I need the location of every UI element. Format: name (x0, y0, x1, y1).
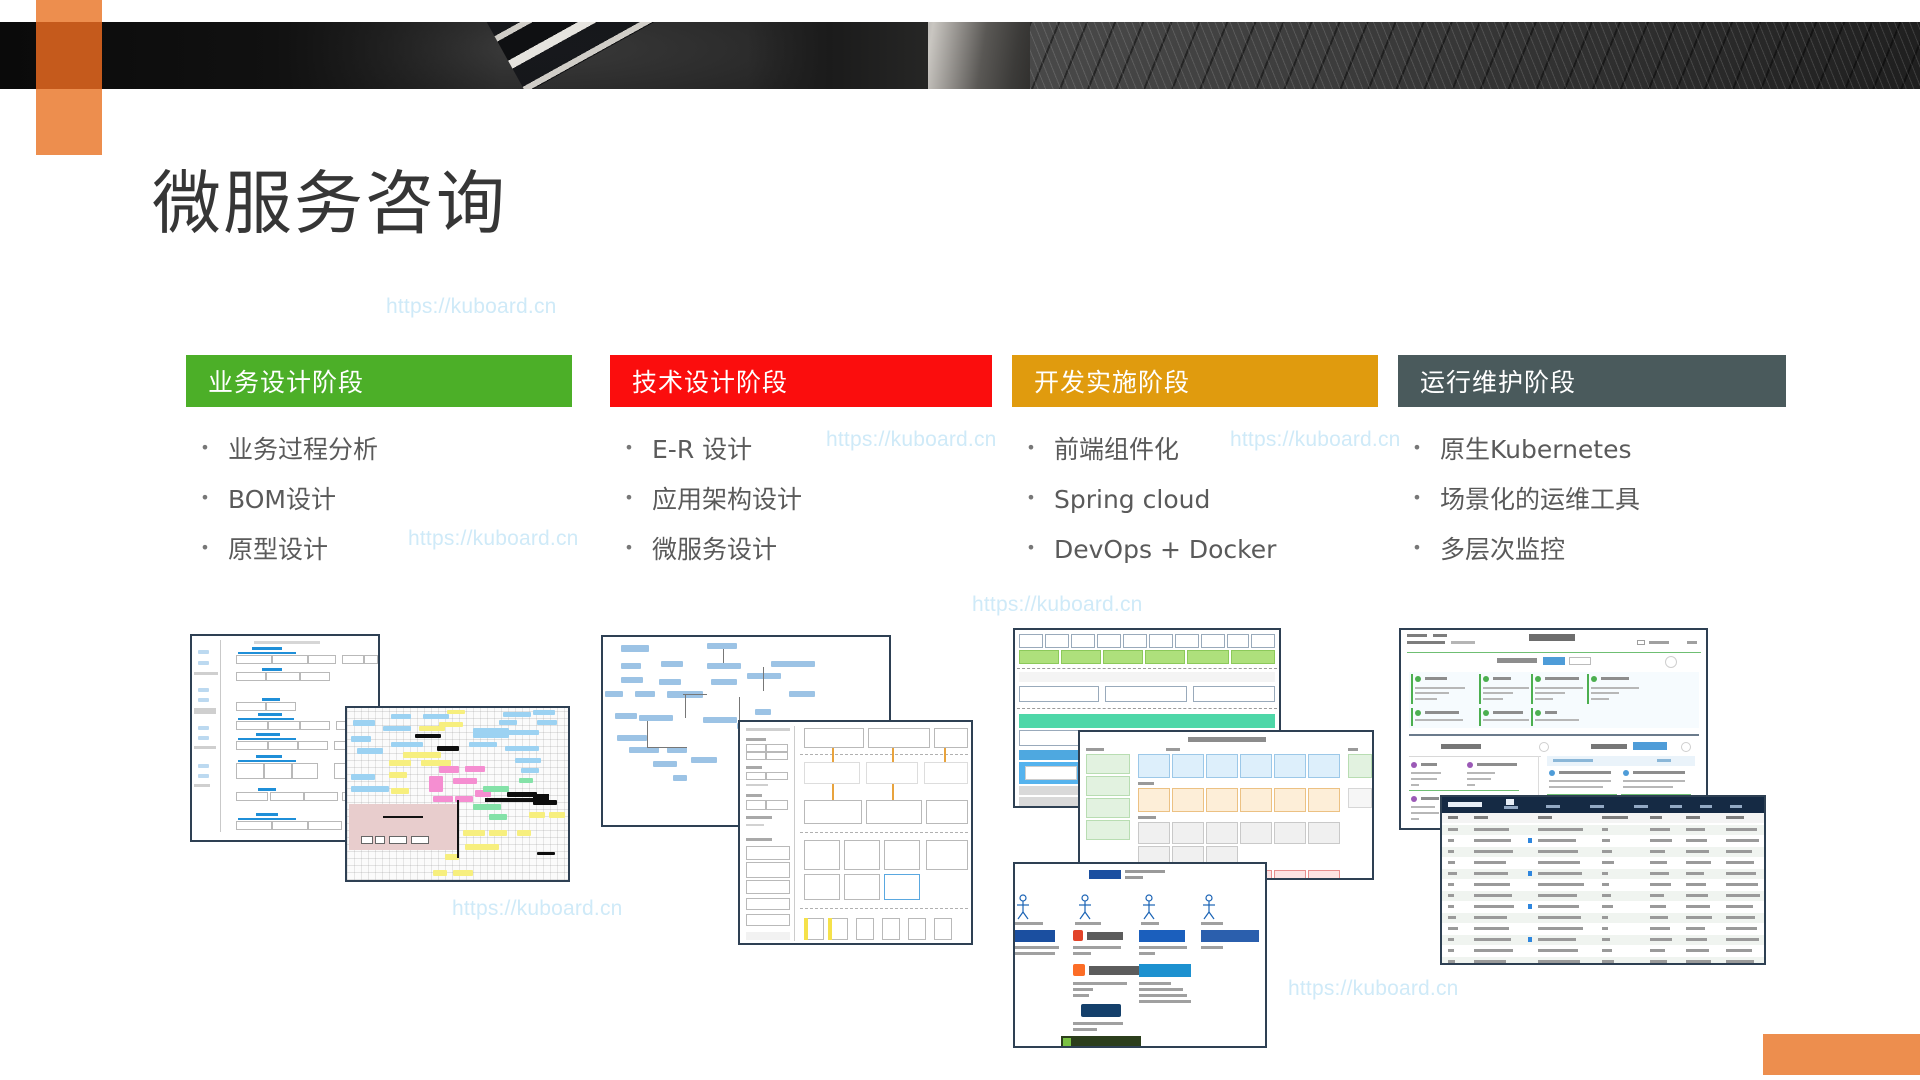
table-cell (1686, 828, 1705, 831)
bullet-label: 业务过程分析 (224, 433, 378, 467)
table-cell (1650, 938, 1672, 941)
bullet-label: 微服务设计 (648, 533, 777, 567)
table-cell (1474, 883, 1510, 886)
banner-photo (0, 22, 1920, 89)
table-cell (1448, 949, 1454, 952)
table-cell (1686, 861, 1711, 864)
table-cell (1448, 828, 1458, 831)
table-cell (1448, 894, 1454, 897)
table-cell (1538, 828, 1583, 831)
phase-header-technical-design[interactable]: 技术设计阶段 (610, 355, 992, 407)
bullet-item: •业务过程分析 (186, 433, 572, 467)
page-title: 微服务咨询 (152, 167, 507, 242)
table-cell (1726, 861, 1754, 864)
bullet-item: •DevOps + Docker (1012, 533, 1378, 567)
architecture-body (740, 722, 971, 943)
phase-bullet-list-operations-maintenance: •原生Kubernetes•场景化的运维工具•多层次监控 (1398, 433, 1786, 566)
table-cell (1650, 927, 1670, 930)
bullet-label: 原生Kubernetes (1436, 433, 1632, 467)
bullet-item: •原生Kubernetes (1398, 433, 1786, 467)
table-cell (1726, 850, 1752, 853)
monitoring-table-body (1442, 797, 1764, 963)
phase-header-label: 运行维护阶段 (1420, 363, 1576, 399)
table-cell (1726, 927, 1757, 930)
table-cell (1538, 927, 1583, 930)
table-cell (1602, 916, 1608, 919)
bullet-dot-icon: • (1398, 483, 1436, 509)
table-cell (1474, 916, 1507, 919)
table-cell (1686, 927, 1705, 930)
table-cell (1538, 850, 1578, 853)
bullet-label: Spring cloud (1050, 483, 1210, 517)
table-cell (1474, 861, 1506, 864)
bullet-label: 前端组件化 (1050, 433, 1179, 467)
watermark-kuboard-7: https://kuboard.cn (1288, 977, 1459, 1001)
table-cell (1538, 960, 1580, 963)
table-cell (1474, 938, 1511, 941)
table-cell (1726, 905, 1753, 908)
watermark-kuboard-1: https://kuboard.cn (386, 295, 557, 319)
phase-header-label: 技术设计阶段 (632, 363, 788, 399)
table-cell (1602, 960, 1614, 963)
bullet-label: 场景化的运维工具 (1436, 483, 1640, 517)
table-cell (1726, 960, 1754, 963)
table-cell (1726, 828, 1757, 831)
bullet-dot-icon: • (1012, 483, 1050, 509)
banner-glass-facade (1030, 22, 1920, 89)
table-cell (1602, 839, 1610, 842)
table-cell (1602, 850, 1612, 853)
table-cell (1448, 872, 1457, 875)
bullet-item: •Spring cloud (1012, 483, 1378, 517)
table-cell (1602, 905, 1613, 908)
table-cell (1602, 861, 1614, 864)
mindmap-nodes (347, 708, 568, 880)
phase-bullet-list-technical-design: •E-R 设计•应用架构设计•微服务设计 (610, 433, 992, 566)
table-cell (1538, 894, 1577, 897)
table-cell (1474, 828, 1509, 831)
row-status-indicator (1528, 871, 1532, 876)
phase-column-business-design: 业务设计阶段•业务过程分析•BOM设计•原型设计 (186, 355, 572, 582)
table-cell (1448, 861, 1455, 864)
table-cell (1726, 883, 1758, 886)
bullet-item: •微服务设计 (610, 533, 992, 567)
table-cell (1448, 883, 1454, 886)
bullet-item: •应用架构设计 (610, 483, 992, 517)
table-cell (1686, 960, 1711, 963)
phase-header-business-design[interactable]: 业务设计阶段 (186, 355, 572, 407)
table-cell (1474, 894, 1512, 897)
phase-header-label: 开发实施阶段 (1034, 363, 1190, 399)
table-cell (1686, 916, 1712, 919)
table-cell (1650, 905, 1666, 908)
phase-column-development-implementation: 开发实施阶段•前端组件化•Spring cloud•DevOps + Docke… (1012, 355, 1378, 582)
thumbnail-microservice-dashboard[interactable] (1078, 730, 1374, 880)
accent-bar-orange-overlap (36, 22, 102, 89)
table-cell (1448, 960, 1455, 963)
table-cell (1448, 938, 1454, 941)
table-cell (1650, 883, 1671, 886)
table-cell (1650, 828, 1670, 831)
devops-toolchain-body (1015, 864, 1265, 1046)
watermark-kuboard-6: https://kuboard.cn (452, 897, 623, 921)
bullet-label: 应用架构设计 (648, 483, 802, 517)
table-cell (1602, 883, 1609, 886)
table-cell (1538, 916, 1581, 919)
table-cell (1686, 839, 1707, 842)
row-status-indicator (1528, 904, 1532, 909)
thumbnail-monitoring-data-table[interactable] (1440, 795, 1766, 965)
phase-column-operations-maintenance: 运行维护阶段•原生Kubernetes•场景化的运维工具•多层次监控 (1398, 355, 1786, 582)
table-cell (1474, 872, 1508, 875)
table-cell (1686, 872, 1704, 875)
bullet-dot-icon: • (186, 483, 224, 509)
phase-bullet-list-development-implementation: •前端组件化•Spring cloud•DevOps + Docker (1012, 433, 1378, 566)
table-cell (1538, 872, 1582, 875)
table-cell (1726, 894, 1760, 897)
bullet-dot-icon: • (610, 483, 648, 509)
table-cell (1602, 828, 1608, 831)
table-cell (1448, 850, 1454, 853)
table-cell (1726, 872, 1756, 875)
table-cell (1650, 872, 1669, 875)
table-cell (1448, 839, 1454, 842)
table-cell (1448, 916, 1456, 919)
table-cell (1602, 872, 1608, 875)
bullet-dot-icon: • (1012, 433, 1050, 459)
table-cell (1650, 850, 1665, 853)
stick-figure-icons (1015, 892, 1267, 922)
table-cell (1602, 949, 1612, 952)
bullet-label: BOM设计 (224, 483, 336, 517)
table-cell (1726, 839, 1759, 842)
table-cell (1474, 960, 1506, 963)
table-cell (1650, 960, 1667, 963)
table-cell (1726, 949, 1752, 952)
thumbnail-bom-mindmap-diagram[interactable] (345, 706, 570, 882)
table-cell (1686, 850, 1709, 853)
bullet-dot-icon: • (1398, 533, 1436, 559)
bullet-label: 原型设计 (224, 533, 328, 567)
table-cell (1538, 861, 1580, 864)
table-cell (1474, 927, 1509, 930)
bullet-dot-icon: • (1398, 433, 1436, 459)
table-cell (1686, 894, 1708, 897)
table-cell (1686, 883, 1706, 886)
phase-header-operations-maintenance[interactable]: 运行维护阶段 (1398, 355, 1786, 407)
bullet-dot-icon: • (186, 533, 224, 559)
table-cell (1726, 916, 1755, 919)
table-cell (1602, 927, 1608, 930)
bullet-dot-icon: • (610, 433, 648, 459)
table-cell (1538, 883, 1584, 886)
phase-bullet-list-business-design: •业务过程分析•BOM设计•原型设计 (186, 433, 572, 566)
table-cell (1474, 839, 1511, 842)
table-cell (1650, 839, 1672, 842)
table-cell (1474, 949, 1513, 952)
bullet-label: 多层次监控 (1436, 533, 1565, 567)
bullet-item: •原型设计 (186, 533, 572, 567)
table-cell (1448, 905, 1454, 908)
phase-column-technical-design: 技术设计阶段•E-R 设计•应用架构设计•微服务设计 (610, 355, 992, 582)
table-cell (1726, 938, 1759, 941)
thumbnail-devops-toolchain-diagram[interactable] (1013, 862, 1267, 1048)
thumbnail-application-architecture-diagram[interactable] (738, 720, 973, 945)
table-cell (1686, 949, 1709, 952)
bullet-dot-icon: • (1012, 533, 1050, 559)
watermark-kuboard-5: https://kuboard.cn (972, 593, 1143, 617)
table-cell (1650, 949, 1665, 952)
bullet-item: •BOM设计 (186, 483, 572, 517)
table-cell (1474, 905, 1514, 908)
microservice-dashboard-body (1080, 732, 1372, 878)
table-cell (1538, 839, 1576, 842)
table-cell (1602, 894, 1611, 897)
bullet-label: E-R 设计 (648, 433, 752, 467)
table-cell (1474, 850, 1513, 853)
bullet-label: DevOps + Docker (1050, 533, 1276, 567)
bullet-dot-icon: • (186, 433, 224, 459)
bullet-dot-icon: • (610, 533, 648, 559)
table-cell (1538, 938, 1576, 941)
accent-bar-orange-bottom (1763, 1034, 1920, 1075)
table-cell (1538, 949, 1578, 952)
table-cell (1538, 905, 1579, 908)
phase-header-development-implementation[interactable]: 开发实施阶段 (1012, 355, 1378, 407)
phase-header-label: 业务设计阶段 (208, 363, 364, 399)
table-cell (1650, 916, 1668, 919)
table-cell (1650, 894, 1664, 897)
banner-mid-shadow (748, 22, 928, 89)
table-cell (1448, 927, 1458, 930)
bullet-item: •多层次监控 (1398, 533, 1786, 567)
table-cell (1686, 905, 1710, 908)
table-cell (1602, 938, 1610, 941)
bullet-item: •场景化的运维工具 (1398, 483, 1786, 517)
bullet-item: •E-R 设计 (610, 433, 992, 467)
bullet-item: •前端组件化 (1012, 433, 1378, 467)
table-cell (1686, 938, 1707, 941)
row-status-indicator (1528, 838, 1532, 843)
row-status-indicator (1528, 937, 1532, 942)
table-cell (1650, 861, 1667, 864)
